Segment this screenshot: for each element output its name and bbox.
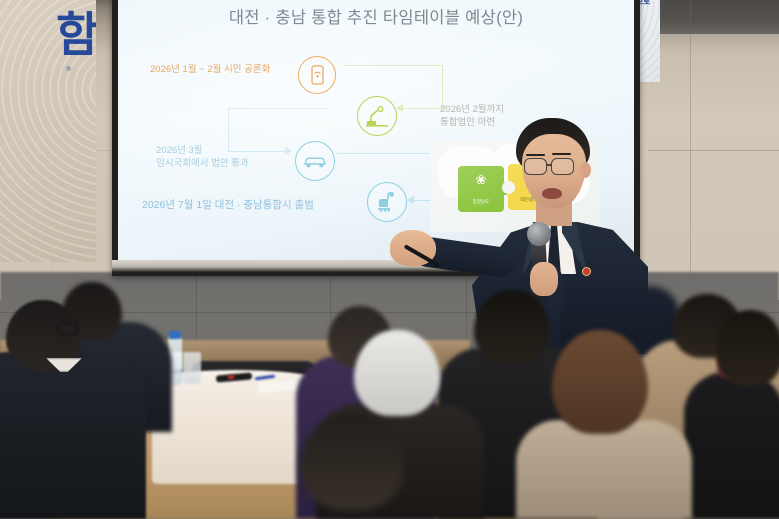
eyeglasses-bridge-icon — [547, 164, 552, 166]
audience-member-head — [552, 330, 648, 434]
slide-label-step-3: 2026년 3월 임시국회에서 법안 통과 — [156, 145, 249, 171]
water-bottle-cap — [169, 331, 181, 339]
audience-eyeglasses-icon — [56, 322, 78, 335]
audience-member-head — [716, 310, 779, 386]
connector-1-vertical — [442, 65, 443, 109]
left-banner: 함 — [0, 0, 96, 262]
slide-label-step-2-line1: 2026년 2월까지 — [440, 104, 504, 117]
car-glyph — [303, 154, 327, 169]
smartphone-icon — [298, 56, 336, 94]
train-glyph — [375, 191, 399, 213]
arrow-head-icon — [396, 104, 403, 112]
connector-1-horizontal — [343, 65, 443, 66]
audience-member-shoulders — [684, 372, 779, 519]
speaker-microphone-hand — [530, 262, 558, 296]
microphone-head-icon — [527, 222, 551, 246]
slide-title: 대전 · 충남 통합 추진 타임테이블 예상(안) — [118, 4, 634, 28]
robot-arm-icon — [357, 96, 397, 136]
smartphone-glyph — [311, 65, 324, 85]
eyeglasses-lens-right-icon — [551, 158, 574, 175]
table-cloth — [152, 374, 320, 484]
arrow-head-icon — [407, 196, 414, 204]
speaker-ear — [580, 162, 591, 178]
audience-member-head — [474, 290, 550, 364]
eyeglasses-lens-left-icon — [524, 158, 547, 175]
slide-label-step-3-line1: 2026년 3월 — [156, 145, 249, 158]
robot-arm-glyph — [365, 105, 389, 127]
slide-label-step-1: 2026년 1월 ~ 2월 시민 공론화 — [150, 64, 270, 77]
presenter-remote-button — [228, 375, 234, 380]
speaker-lapel-badge — [583, 268, 590, 275]
audience-member-shoulders — [0, 352, 146, 519]
slide-label-step-4: 2026년 7월 1일 대전 · 충남통합시 출범 — [142, 198, 314, 212]
slide-label-step-3-line2: 임시국회에서 법안 통과 — [156, 158, 249, 171]
drinking-glass — [183, 352, 201, 384]
audience-member-foreground-head — [300, 414, 404, 510]
speaker-mouth — [542, 188, 562, 199]
audience-member-white-hair-head — [354, 330, 440, 416]
dark-ceiling-band — [640, 0, 779, 34]
car-icon — [295, 141, 335, 181]
wall-tile-line — [648, 150, 779, 151]
connector-1-return — [403, 108, 443, 109]
connector-2-horizontal — [228, 108, 328, 109]
train-icon — [367, 182, 407, 222]
arrow-head-icon — [285, 147, 292, 155]
audience-member-shoulders — [516, 420, 692, 519]
photo-scene: 함 주민속으로 ❀ 충청남도 — [0, 0, 779, 519]
banner-left-character: 함 — [56, 12, 96, 59]
banner-dot-icon — [66, 66, 71, 71]
